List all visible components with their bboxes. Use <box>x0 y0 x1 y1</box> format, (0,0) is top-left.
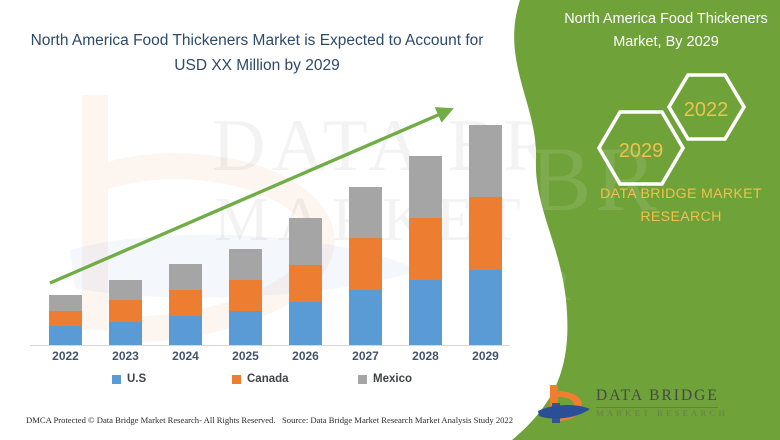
data-bridge-logo: DATA BRIDGE MARKET RESEARCH <box>536 383 736 429</box>
logo-subtitle: MARKET RESEARCH <box>596 409 728 418</box>
logo-divider <box>596 407 718 408</box>
green-panel: BR R North America Food Thickeners Marke… <box>0 0 780 440</box>
infographic-canvas: DATA BRIDGE MARKET RESEARCH North Americ… <box>0 0 780 440</box>
svg-text:R: R <box>540 259 581 310</box>
hexagon-group: 2022 2029 <box>590 72 750 187</box>
brand-name: DATA BRIDGE MARKET RESEARCH <box>586 183 776 229</box>
hexagon-2029-label: 2029 <box>619 140 664 162</box>
logo-title: DATA BRIDGE <box>596 387 719 405</box>
data-bridge-b-mark-icon <box>536 383 592 429</box>
hexagon-2022-label: 2022 <box>684 99 729 121</box>
panel-title: North America Food Thickeners Market, By… <box>560 8 772 54</box>
